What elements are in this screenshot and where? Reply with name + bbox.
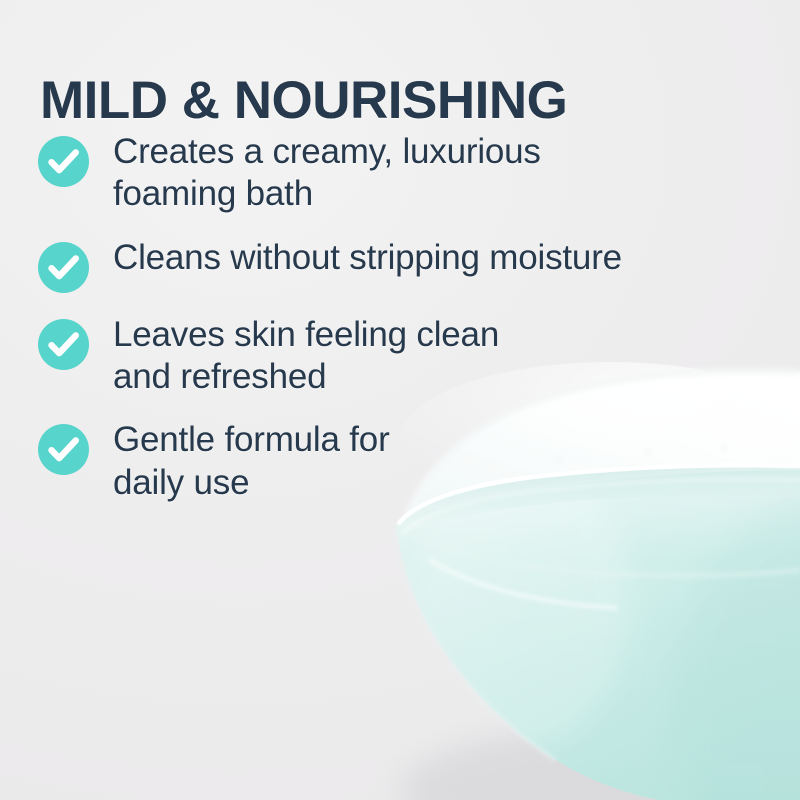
check-circle-icon	[38, 424, 89, 475]
benefit-text: Creates a creamy, luxurious foaming bath	[113, 131, 738, 216]
check-circle-icon	[38, 136, 89, 187]
check-circle-icon	[38, 242, 89, 293]
benefit-text: Leaves skin feeling clean and refreshed	[113, 314, 738, 399]
list-item: Leaves skin feeling clean and refreshed	[38, 314, 738, 399]
check-circle-icon	[38, 319, 89, 370]
list-item: Creates a creamy, luxurious foaming bath	[38, 131, 738, 216]
benefit-list: Creates a creamy, luxurious foaming bath…	[38, 131, 738, 504]
list-item: Gentle formula for daily use	[38, 419, 738, 504]
benefit-text: Cleans without stripping moisture	[113, 237, 738, 279]
page-title: MILD & NOURISHING	[40, 74, 760, 127]
product-feature-card: MILD & NOURISHING Creates a creamy, luxu…	[0, 0, 800, 800]
benefit-text: Gentle formula for daily use	[113, 419, 738, 504]
list-item: Cleans without stripping moisture	[38, 237, 738, 293]
